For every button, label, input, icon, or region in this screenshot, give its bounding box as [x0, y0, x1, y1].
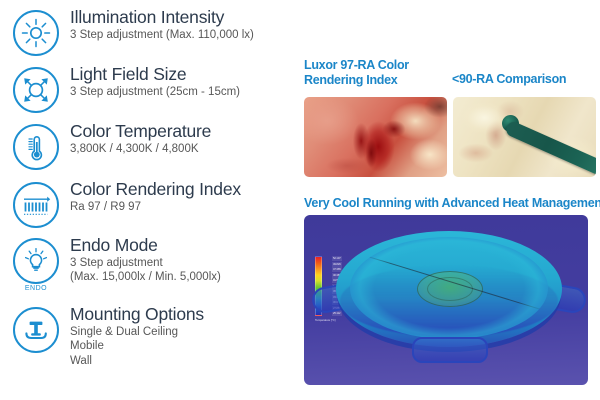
specifications-list: Illumination Intensity 3 Step adjustment…	[0, 0, 296, 400]
spec-title: Color Temperature	[70, 122, 211, 142]
surgical-light-head-model	[330, 225, 568, 375]
sun-rays-icon	[13, 10, 59, 56]
spec-icon-wrap	[8, 65, 64, 113]
surgical-photo-high-cri	[304, 97, 447, 177]
measurement-diagonal-line	[358, 253, 548, 319]
spec-row-light-field-size: Light Field Size 3 Step adjustment (25cm…	[0, 65, 296, 113]
thermal-heading: Very Cool Running with Advanced Heat Man…	[304, 196, 600, 210]
thermometer-icon	[13, 124, 59, 170]
spec-title: Light Field Size	[70, 65, 240, 85]
comparison-photos	[304, 97, 596, 177]
comparison-heading-left-line1: Luxor 97-RA Color	[304, 58, 452, 73]
spec-row-mounting-options: Mounting Options Single & Dual Ceiling M…	[0, 305, 296, 369]
spec-sub-line: 3,800K / 4,300K / 4,800K	[70, 142, 211, 157]
ceiling-mount-icon	[13, 307, 59, 353]
spec-sub-line: 3 Step adjustment (25cm - 15cm)	[70, 85, 240, 100]
spec-title: Illumination Intensity	[70, 8, 254, 28]
spec-row-color-temperature: Color Temperature 3,800K / 4,300K / 4,80…	[0, 122, 296, 170]
spec-title: Endo Mode	[70, 236, 221, 256]
spec-title: Mounting Options	[70, 305, 204, 325]
light-head-hub-outer	[417, 271, 483, 307]
spec-icon-wrap	[8, 8, 64, 56]
spec-text: Endo Mode 3 Step adjustment (Max. 15,000…	[64, 236, 221, 285]
lightbulb-endo-icon	[13, 238, 59, 284]
spec-icon-wrap: ENDO	[8, 236, 64, 292]
light-field-size-icon	[13, 67, 59, 113]
spec-title: Color Rendering Index	[70, 180, 241, 200]
spec-sub-line: Ra 97 / R9 97	[70, 200, 241, 215]
thermal-analysis-image: 52.137 49.826 47.365 46.388 41.588 39.54…	[304, 215, 588, 385]
spec-sub-line: 3 Step adjustment	[70, 256, 221, 271]
right-media-column: Luxor 97-RA Color Rendering Index <90-RA…	[296, 0, 600, 400]
spec-row-illumination-intensity: Illumination Intensity 3 Step adjustment…	[0, 8, 296, 56]
comparison-heading-right: <90-RA Comparison	[452, 58, 596, 88]
spec-row-endo-mode: ENDO Endo Mode 3 Step adjustment (Max. 1…	[0, 236, 296, 292]
spec-text: Mounting Options Single & Dual Ceiling M…	[64, 305, 204, 369]
comparison-heading-left-line2: Rendering Index	[304, 73, 452, 88]
thermal-heat-field	[350, 237, 548, 339]
spec-sub-line: Single & Dual Ceiling	[70, 325, 204, 340]
spec-sub-line: Wall	[70, 354, 204, 369]
surgical-photo-low-cri	[453, 97, 596, 177]
comparison-heading-left: Luxor 97-RA Color Rendering Index	[304, 58, 452, 88]
spec-sub-line: Mobile	[70, 339, 204, 354]
comparison-headings: Luxor 97-RA Color Rendering Index <90-RA…	[304, 58, 596, 88]
spec-sheet-page: Illumination Intensity 3 Step adjustment…	[0, 0, 600, 400]
light-handle-bottom	[412, 337, 488, 363]
spec-icon-wrap	[8, 180, 64, 228]
spec-sub-line: 3 Step adjustment (Max. 110,000 lx)	[70, 28, 254, 43]
spec-icon-wrap	[8, 305, 64, 353]
spec-text: Color Rendering Index Ra 97 / R9 97	[64, 180, 241, 214]
spec-row-color-rendering-index: Color Rendering Index Ra 97 / R9 97	[0, 180, 296, 228]
spec-text: Light Field Size 3 Step adjustment (25cm…	[64, 65, 240, 99]
spec-text: Color Temperature 3,800K / 4,300K / 4,80…	[64, 122, 211, 156]
spec-text: Illumination Intensity 3 Step adjustment…	[64, 8, 254, 42]
endo-icon-caption: ENDO	[25, 285, 47, 292]
spec-icon-wrap	[8, 122, 64, 170]
spec-sub-line: (Max. 15,000lx / Min. 5,000lx)	[70, 270, 221, 285]
spectrum-bars-icon	[13, 182, 59, 228]
instrument-knob	[502, 115, 519, 132]
light-head-hub-inner	[427, 277, 473, 301]
